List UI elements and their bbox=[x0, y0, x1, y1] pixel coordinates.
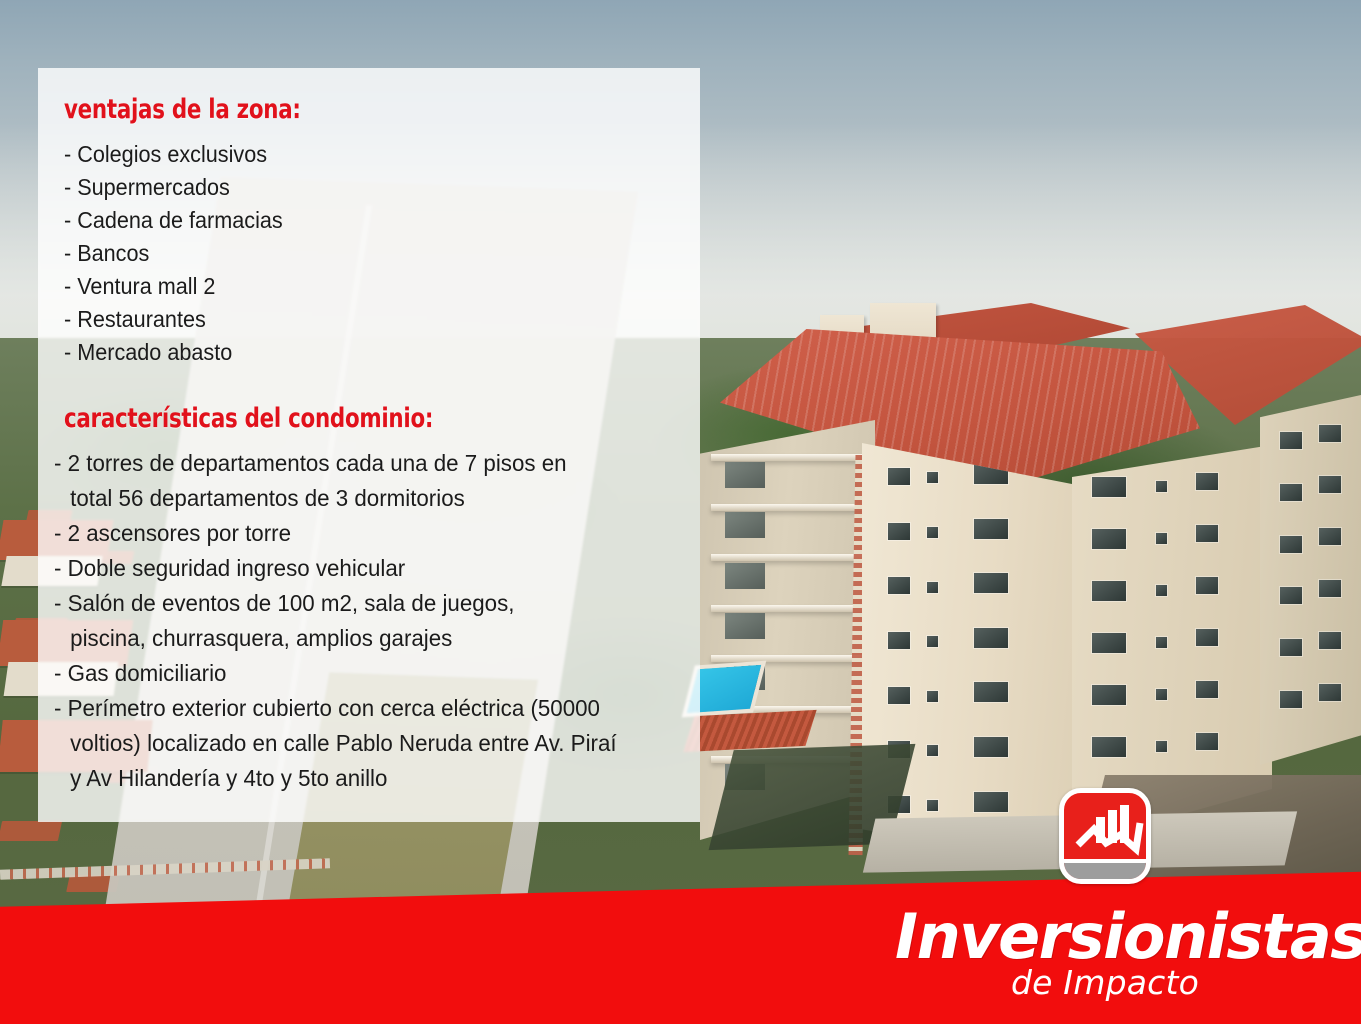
zone-advantages-heading: ventajas de la zona: bbox=[64, 94, 601, 125]
list-item: - Perímetro exterior cubierto con cerca … bbox=[54, 691, 643, 796]
list-item-line: y Av Hilandería y 4to y 5to anillo bbox=[54, 761, 643, 796]
list-item: - Colegios exclusivos bbox=[64, 138, 637, 171]
condominium-features-list: - 2 torres de departamentos cada una de … bbox=[54, 446, 674, 796]
poolside-roof bbox=[683, 710, 816, 752]
list-item-line: - 2 torres de departamentos cada una de … bbox=[54, 450, 567, 476]
list-item: - Gas domiciliario bbox=[54, 656, 643, 691]
rear-wing-facade bbox=[1260, 395, 1361, 765]
list-item: - Bancos bbox=[64, 237, 637, 270]
list-item-line: piscina, churrasquera, amplios garajes bbox=[54, 621, 643, 656]
list-item: - Doble seguridad ingreso vehicular bbox=[54, 551, 643, 586]
list-item: - Restaurantes bbox=[64, 303, 637, 336]
list-item: - Ventura mall 2 bbox=[64, 270, 637, 303]
bar-chart-logo-icon bbox=[1059, 788, 1151, 884]
list-item-line: - Perímetro exterior cubierto con cerca … bbox=[54, 695, 600, 721]
brand-lockup: Inversionistas de Impacto bbox=[895, 905, 1315, 1002]
list-item: - 2 ascensores por torre bbox=[54, 516, 643, 551]
promotional-poster: ventajas de la zona: - Colegios exclusiv… bbox=[0, 0, 1361, 1024]
list-item-line: - Doble seguridad ingreso vehicular bbox=[54, 555, 405, 581]
list-item: - Supermercados bbox=[64, 171, 637, 204]
list-item: - Cadena de farmacias bbox=[64, 204, 637, 237]
list-item-line: voltios) localizado en calle Pablo Nerud… bbox=[54, 726, 643, 761]
condominium-features-heading: características del condominio: bbox=[64, 403, 601, 434]
zone-advantages-list: - Colegios exclusivos - Supermercados - … bbox=[64, 138, 674, 369]
list-item: - 2 torres de departamentos cada una de … bbox=[54, 446, 643, 516]
list-item-line: - Salón de eventos de 100 m2, sala de ju… bbox=[54, 590, 514, 616]
condominium-building bbox=[700, 295, 1361, 885]
info-panel: ventajas de la zona: - Colegios exclusiv… bbox=[38, 68, 700, 822]
list-item: - Salón de eventos de 100 m2, sala de ju… bbox=[54, 586, 643, 656]
list-item-line: - Gas domiciliario bbox=[54, 660, 226, 686]
list-item-line: total 56 departamentos de 3 dormitorios bbox=[54, 481, 643, 516]
list-item: - Mercado abasto bbox=[64, 336, 637, 369]
brand-name: Inversionistas bbox=[895, 905, 1315, 969]
logo-grey-band bbox=[1064, 859, 1146, 879]
list-item-line: - 2 ascensores por torre bbox=[54, 520, 291, 546]
